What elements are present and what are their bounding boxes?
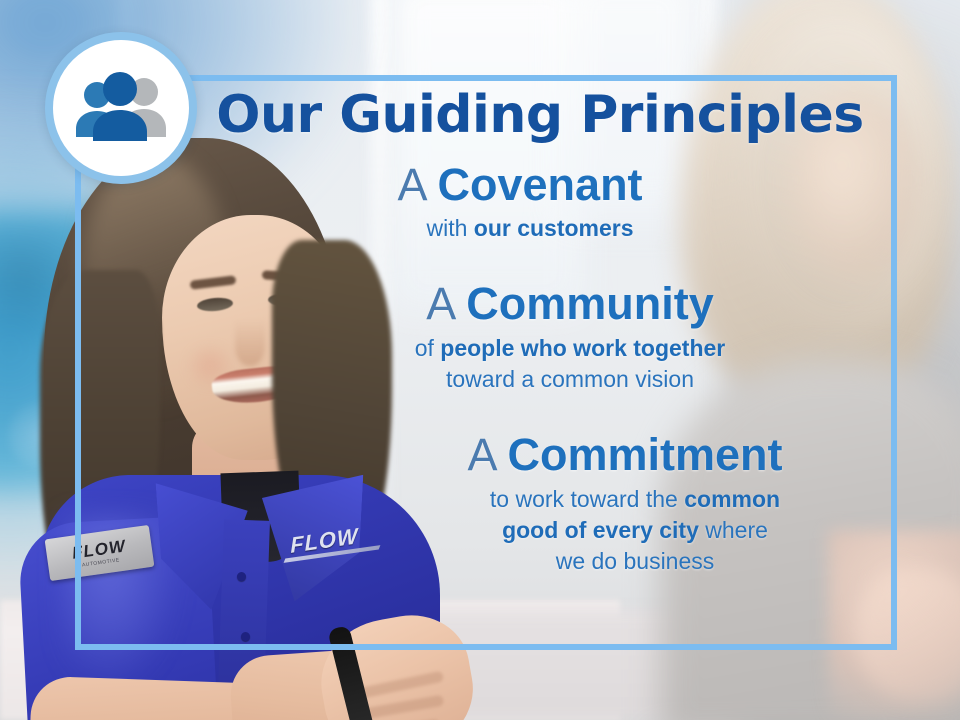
subtext-plain: we do business [556, 548, 715, 574]
principle-article: A [467, 429, 495, 480]
principle-headline: A Community [200, 280, 880, 329]
principle-subtext: with our customers [200, 213, 880, 244]
principle-subtext: of people who work togethertoward a comm… [200, 333, 880, 395]
subtext-plain: of [415, 335, 441, 361]
subtext-emphasis: common [684, 486, 780, 512]
subtext-plain: toward a common vision [446, 366, 694, 392]
principles-text-column: Our Guiding Principles A Covenant with o… [200, 88, 880, 577]
page-title: Our Guiding Principles [200, 88, 880, 143]
subtext-plain: to work toward the [490, 486, 684, 512]
subtext-plain: with [426, 215, 473, 241]
subtext-emphasis: people who work together [440, 335, 725, 361]
people-group-icon [45, 32, 197, 184]
principle-block-community: A Community of people who work togethert… [200, 280, 880, 395]
guiding-principles-banner: FLOW AUTOMOTIVE FLOW [0, 0, 960, 720]
subtext-emphasis: good of every city [502, 517, 699, 543]
principle-word: Commitment [508, 429, 783, 480]
principle-headline: A Commitment [200, 431, 880, 480]
subtext-emphasis: our customers [474, 215, 634, 241]
principle-block-commitment: A Commitment to work toward the commongo… [200, 431, 880, 577]
principle-block-covenant: A Covenant with our customers [200, 161, 880, 245]
principle-headline: A Covenant [200, 161, 880, 210]
principle-subtext: to work toward the commongood of every c… [200, 484, 880, 577]
principle-article: A [397, 159, 425, 210]
subtext-plain: where [699, 517, 768, 543]
principle-word: Covenant [438, 159, 643, 210]
principle-word: Community [466, 278, 714, 329]
principle-article: A [426, 278, 454, 329]
